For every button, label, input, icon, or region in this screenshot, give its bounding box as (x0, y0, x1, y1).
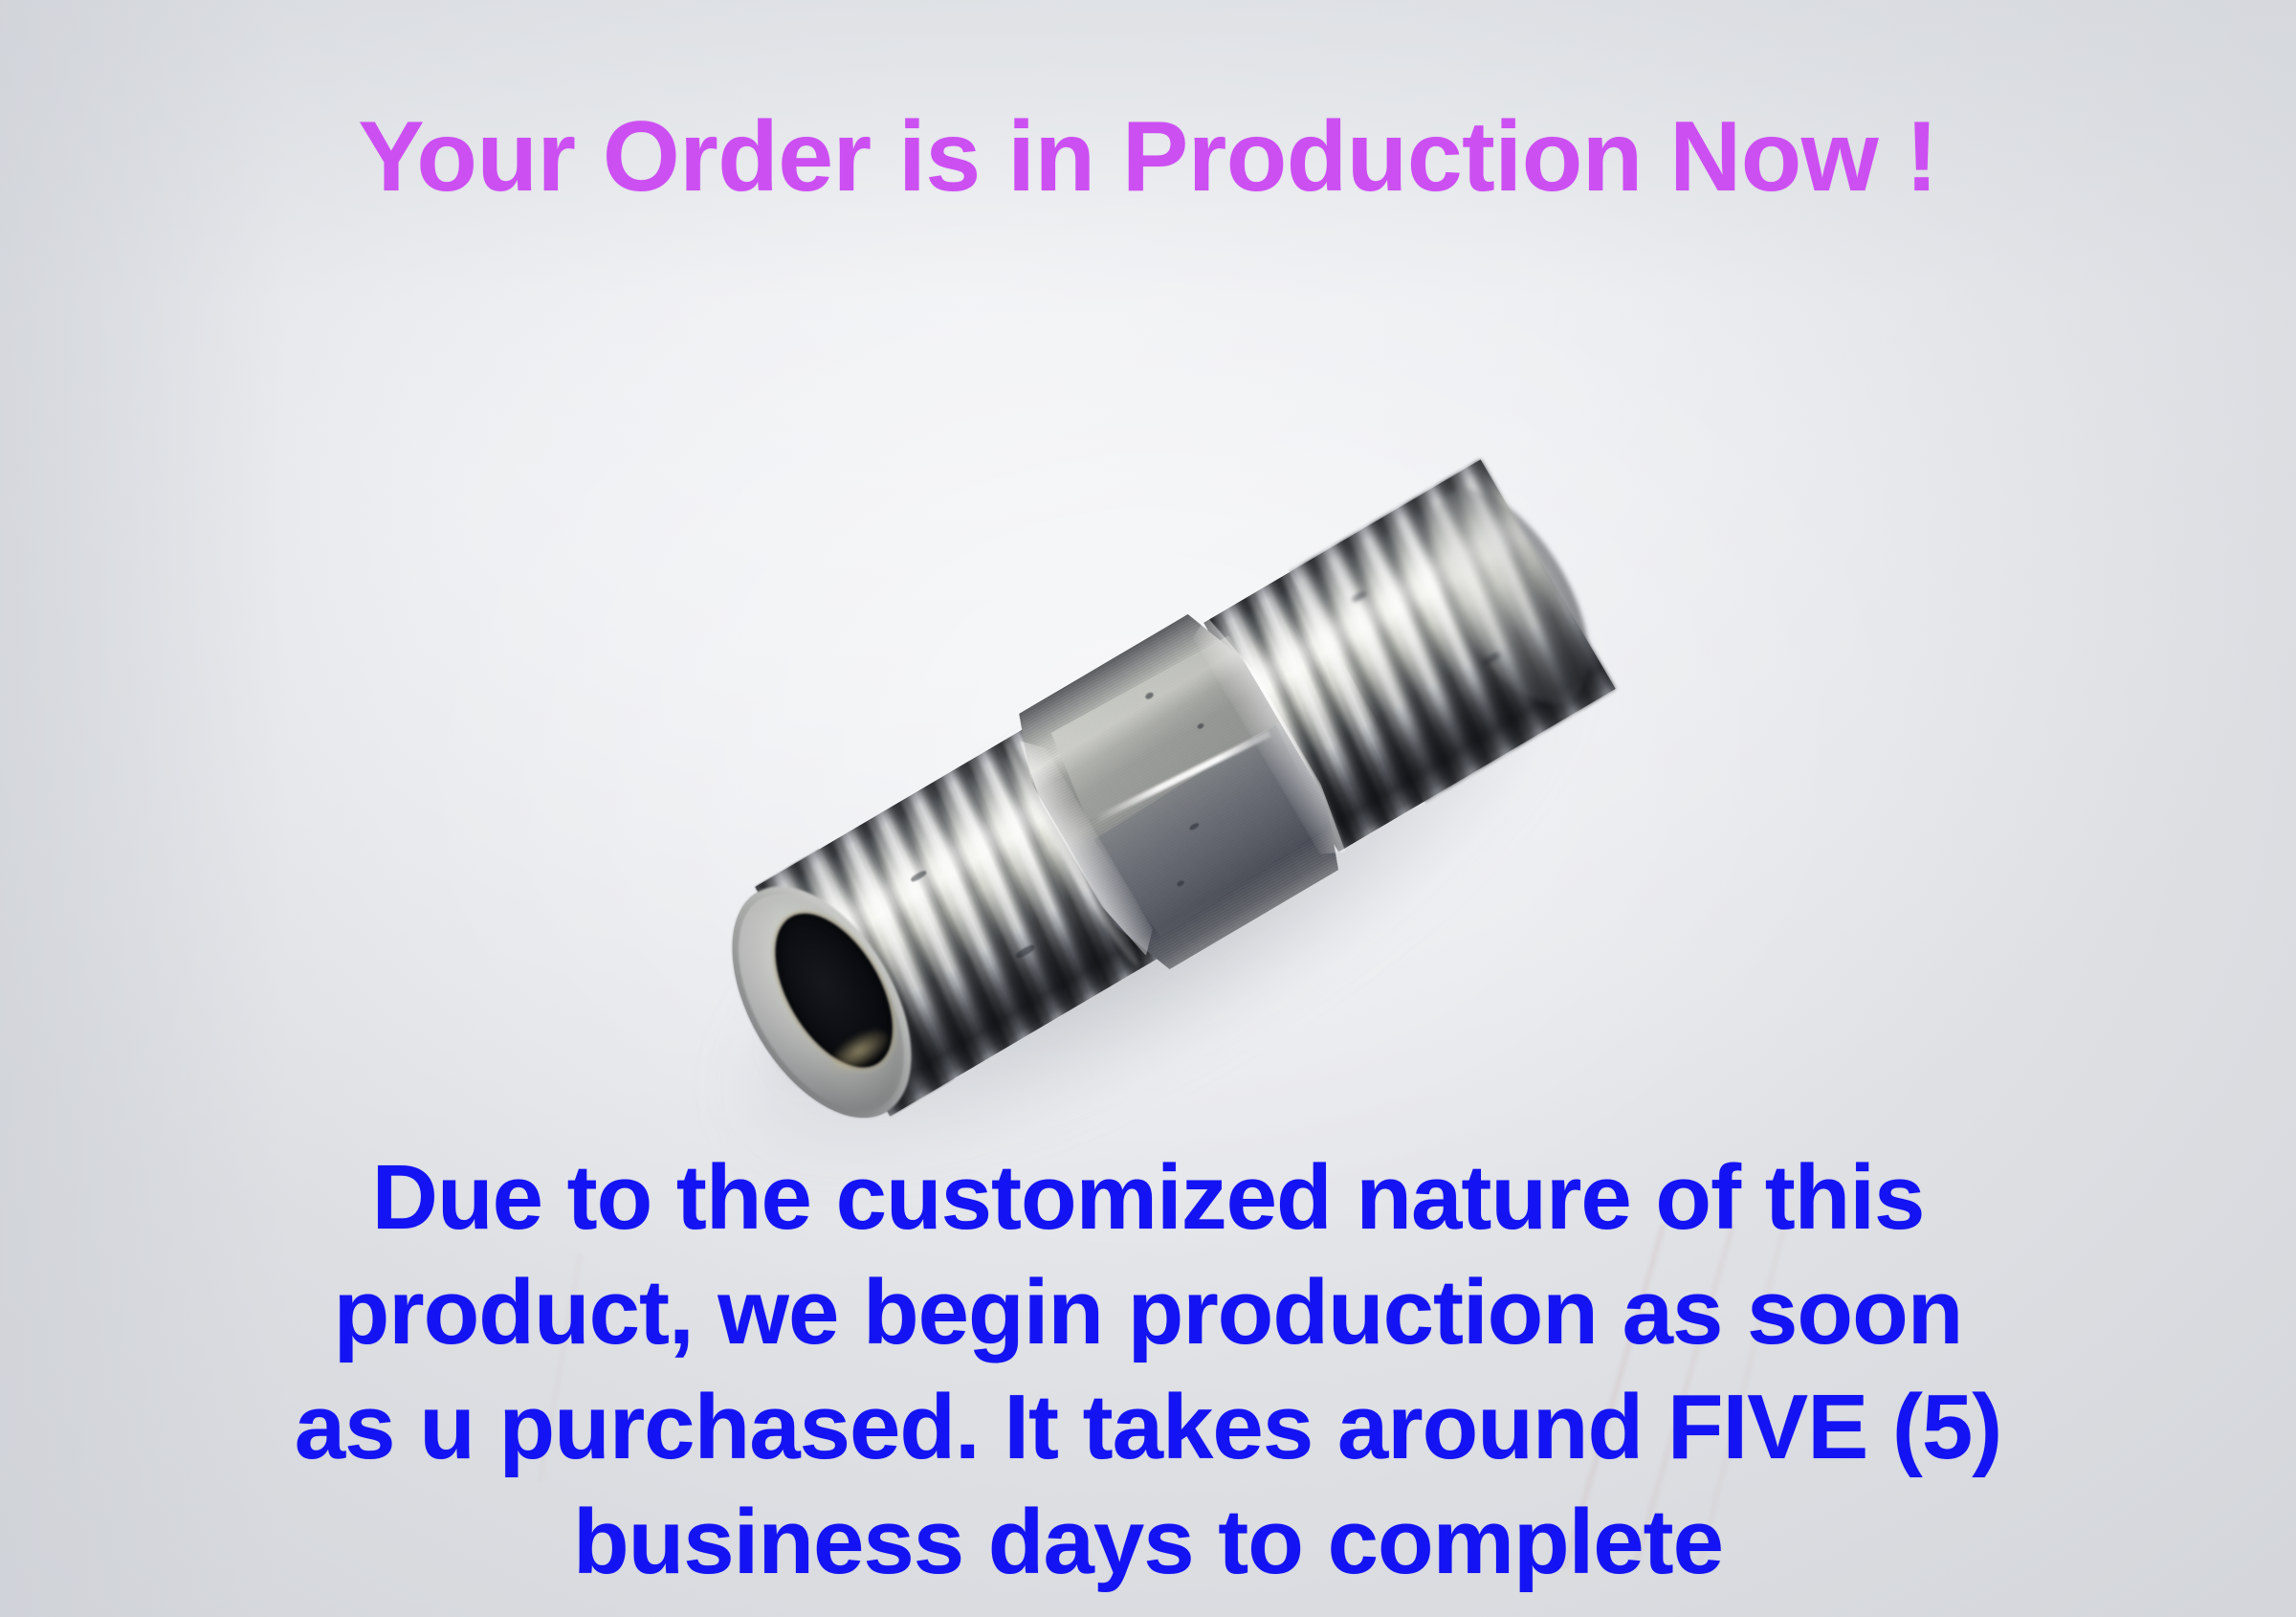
notice-line-3: as u purchased. It takes around FIVE (5) (0, 1370, 2296, 1485)
notice-line-1: Due to the customized nature of this (0, 1141, 2296, 1255)
notice-line-2: product, we begin production as soon (0, 1255, 2296, 1370)
page-title: Your Order is in Production Now ! (0, 107, 2296, 207)
product-photo (670, 440, 1684, 1148)
notice-line-4: business days to complete (0, 1485, 2296, 1600)
notice-banner: Your Order is in Production Now ! Due to… (0, 0, 2296, 1617)
production-notice-text: Due to the customized nature of this pro… (0, 1141, 2296, 1600)
